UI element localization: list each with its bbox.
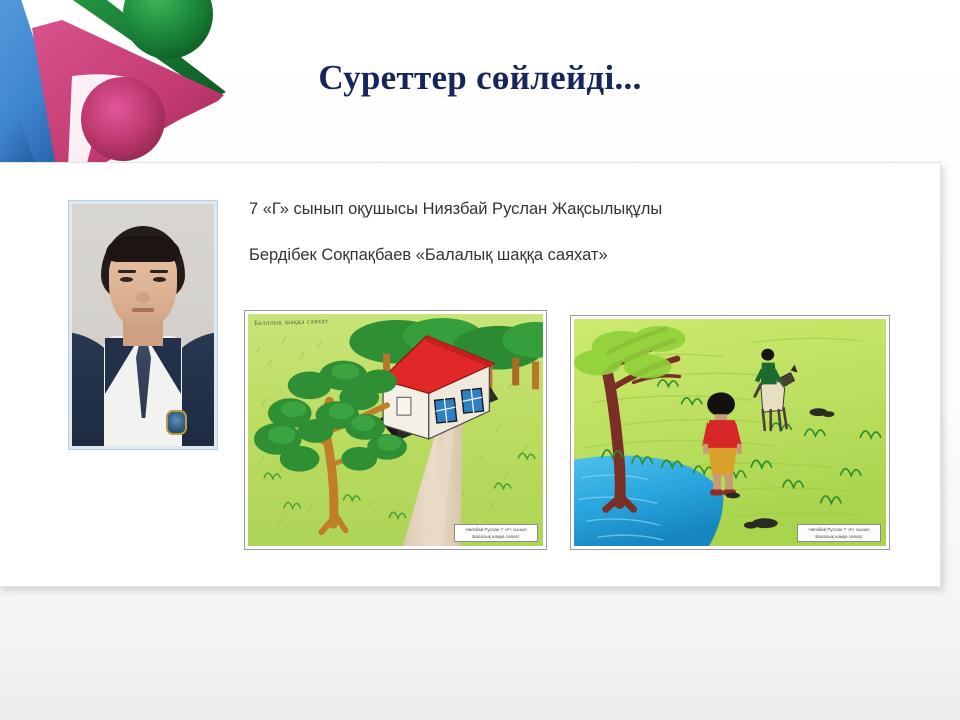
photo-fringe <box>106 236 180 262</box>
student-photo-image <box>72 204 214 446</box>
photo-collar-right <box>147 338 181 394</box>
book-title-line: Бердібек Соқпақбаев «Балалық шаққа саяха… <box>249 245 889 266</box>
student-photo <box>68 200 218 450</box>
photo-eyebrow-left <box>118 270 136 273</box>
photo-nose <box>136 292 150 303</box>
drawing-boy-at-lake: Ниязбай Руслан 7 «Г» сынып Балалық шаққа… <box>570 315 890 550</box>
photo-mouth <box>132 308 154 312</box>
slide-root: Суреттер сөйлейді... 7 «Г» сы <box>0 0 960 720</box>
photo-collar-left <box>105 338 139 394</box>
drawing-1-label-box: Ниязбай Руслан 7 «Г» сынып Балалық шаққа… <box>454 524 538 542</box>
drawing-2-label-box: Ниязбай Руслан 7 «Г» сынып Балалық шаққа… <box>797 524 881 542</box>
photo-eyebrow-right <box>150 270 168 273</box>
student-info-text: 7 «Г» сынып оқушысы Ниязбай Руслан Жақсы… <box>249 199 889 265</box>
page-title: Суреттер сөйлейді... <box>0 58 960 98</box>
photo-eye-right <box>153 277 166 282</box>
school-emblem-badge-icon <box>166 410 187 435</box>
photo-eye-left <box>120 277 133 282</box>
student-name-line: 7 «Г» сынып оқушысы Ниязбай Руслан Жақсы… <box>249 199 889 220</box>
drawing-house-and-tree: Балалық шаққа саяхат Ниязбай Руслан 7 «Г… <box>244 310 547 550</box>
